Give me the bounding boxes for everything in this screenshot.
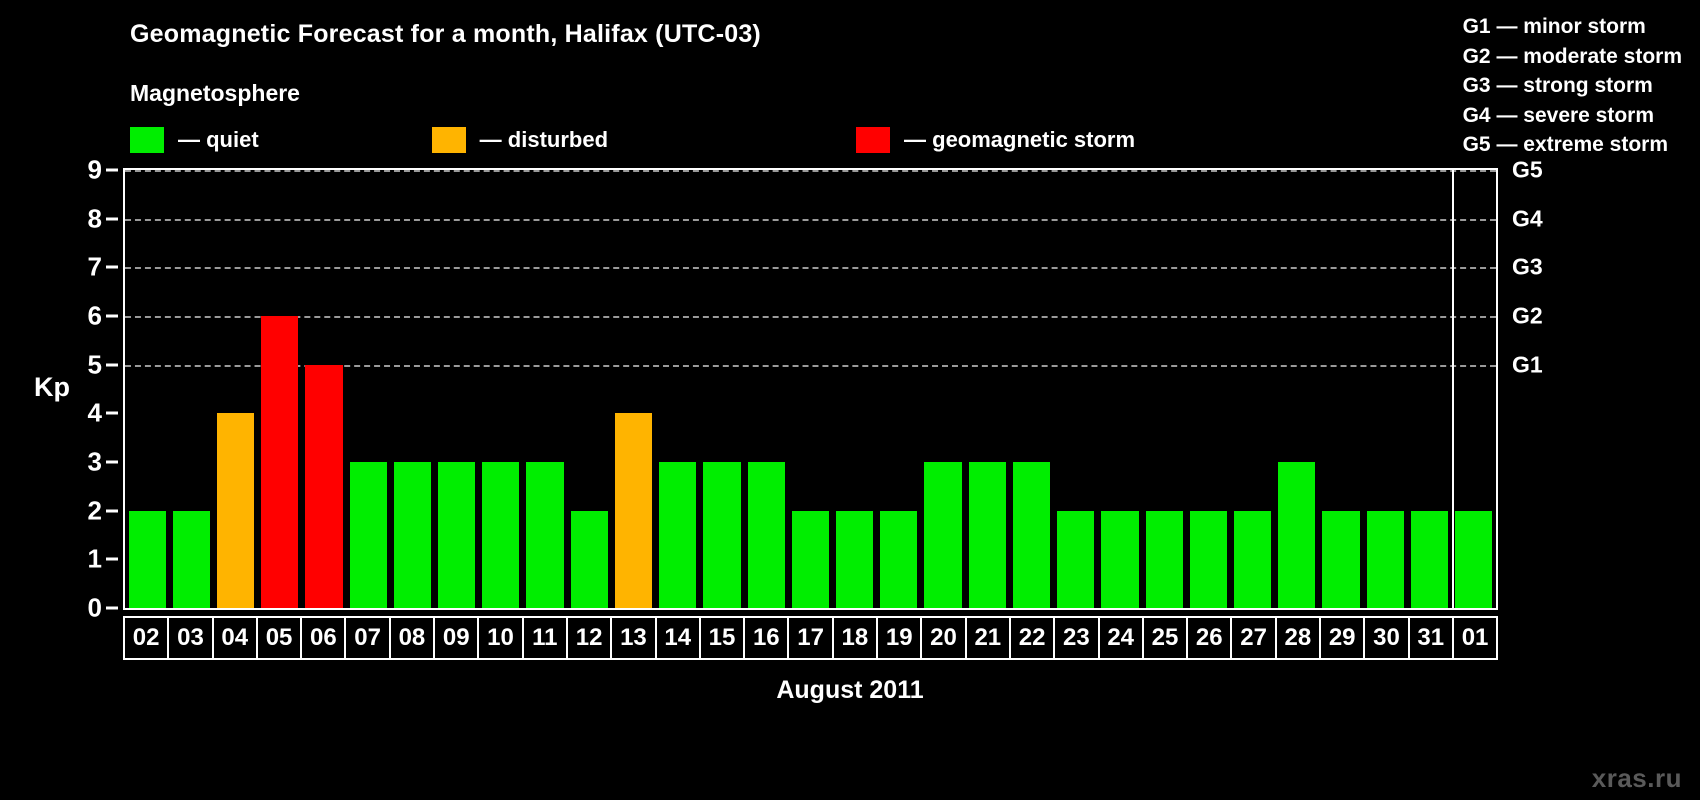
bar-slot-13 xyxy=(611,170,655,608)
y-tick-mark-4 xyxy=(106,412,118,415)
bar-slot-06 xyxy=(302,170,346,608)
date-label-08: 08 xyxy=(391,618,435,658)
bar-06 xyxy=(305,365,342,608)
legend-label-geomagnetic-storm: — geomagnetic storm xyxy=(904,127,1135,153)
bar-slot-05 xyxy=(258,170,302,608)
y-tick-label-4: 4 xyxy=(88,398,102,429)
bar-07 xyxy=(350,462,387,608)
date-label-07: 07 xyxy=(346,618,390,658)
bar-10 xyxy=(482,462,519,608)
bar-slot-27 xyxy=(1230,170,1274,608)
date-label-16: 16 xyxy=(745,618,789,658)
legend-label-quiet: — quiet xyxy=(178,127,259,153)
bar-18 xyxy=(836,511,873,608)
bar-slot-26 xyxy=(1186,170,1230,608)
bar-22 xyxy=(1013,462,1050,608)
bar-21 xyxy=(969,462,1006,608)
g-scale-line-2: G2 — moderate storm xyxy=(1463,42,1682,72)
bars xyxy=(125,170,1496,608)
g-axis-label-G1: G1 xyxy=(1512,351,1543,378)
y-tick-label-5: 5 xyxy=(88,349,102,380)
bar-31 xyxy=(1411,511,1448,608)
g-axis-label-G5: G5 xyxy=(1512,157,1543,184)
bar-01 xyxy=(1455,511,1492,608)
date-label-14: 14 xyxy=(657,618,701,658)
date-label-12: 12 xyxy=(568,618,612,658)
g-scale-axis: G5G4G3G2G1 xyxy=(1506,168,1586,610)
bar-26 xyxy=(1190,511,1227,608)
bar-slot-08 xyxy=(390,170,434,608)
date-label-26: 26 xyxy=(1188,618,1232,658)
date-label-04: 04 xyxy=(214,618,258,658)
x-axis-title: August 2011 xyxy=(0,676,1700,705)
bar-27 xyxy=(1234,511,1271,608)
bar-20 xyxy=(924,462,961,608)
date-label-23: 23 xyxy=(1055,618,1099,658)
date-label-20: 20 xyxy=(922,618,966,658)
date-label-17: 17 xyxy=(789,618,833,658)
bar-13 xyxy=(615,413,652,608)
watermark: xras.ru xyxy=(1592,763,1682,794)
date-label-28: 28 xyxy=(1277,618,1321,658)
date-label-09: 09 xyxy=(435,618,479,658)
date-label-29: 29 xyxy=(1321,618,1365,658)
bar-slot-20 xyxy=(921,170,965,608)
date-label-22: 22 xyxy=(1011,618,1055,658)
bar-12 xyxy=(571,511,608,608)
bar-slot-09 xyxy=(435,170,479,608)
g-axis-label-G2: G2 xyxy=(1512,303,1543,330)
g-scale-line-4: G4 — severe storm xyxy=(1463,101,1682,131)
g-scale-line-3: G3 — strong storm xyxy=(1463,71,1682,101)
g-scale-legend: G1 — minor stormG2 — moderate stormG3 — … xyxy=(1463,12,1682,160)
y-tick-label-8: 8 xyxy=(88,203,102,234)
date-label-31: 31 xyxy=(1410,618,1454,658)
bar-30 xyxy=(1367,511,1404,608)
date-label-19: 19 xyxy=(878,618,922,658)
y-tick-label-0: 0 xyxy=(88,593,102,624)
y-tick-mark-9 xyxy=(106,169,118,172)
bar-14 xyxy=(659,462,696,608)
bar-slot-02 xyxy=(125,170,169,608)
legend-swatch-geomagnetic-storm xyxy=(856,127,890,153)
bar-slot-17 xyxy=(788,170,832,608)
y-tick-label-9: 9 xyxy=(88,155,102,186)
date-label-15: 15 xyxy=(701,618,745,658)
legend-swatch-disturbed xyxy=(432,127,466,153)
bar-slot-15 xyxy=(700,170,744,608)
legend-item-geomagnetic-storm: — geomagnetic storm xyxy=(856,127,1135,153)
legend-swatch-quiet xyxy=(130,127,164,153)
bar-slot-22 xyxy=(1009,170,1053,608)
date-label-13: 13 xyxy=(612,618,656,658)
bar-29 xyxy=(1322,511,1359,608)
bar-slot-24 xyxy=(1098,170,1142,608)
date-label-30: 30 xyxy=(1365,618,1409,658)
bar-09 xyxy=(438,462,475,608)
date-label-03: 03 xyxy=(169,618,213,658)
bar-25 xyxy=(1146,511,1183,608)
date-label-27: 27 xyxy=(1232,618,1276,658)
legend: — quiet— disturbed— geomagnetic storm xyxy=(130,126,1135,154)
date-label-21: 21 xyxy=(967,618,1011,658)
date-label-18: 18 xyxy=(834,618,878,658)
bar-slot-03 xyxy=(169,170,213,608)
bar-08 xyxy=(394,462,431,608)
bar-slot-12 xyxy=(567,170,611,608)
bar-slot-23 xyxy=(1054,170,1098,608)
bar-slot-31 xyxy=(1407,170,1451,608)
date-label-05: 05 xyxy=(258,618,302,658)
bar-slot-28 xyxy=(1275,170,1319,608)
bar-04 xyxy=(217,413,254,608)
bar-slot-29 xyxy=(1319,170,1363,608)
bar-slot-04 xyxy=(213,170,257,608)
plot-area xyxy=(123,168,1498,610)
bar-slot-16 xyxy=(744,170,788,608)
g-axis-label-G4: G4 xyxy=(1512,205,1543,232)
bar-slot-18 xyxy=(833,170,877,608)
g-scale-line-5: G5 — extreme storm xyxy=(1463,130,1682,160)
y-tick-mark-5 xyxy=(106,363,118,366)
y-tick-mark-1 xyxy=(106,558,118,561)
bar-slot-19 xyxy=(877,170,921,608)
y-tick-mark-2 xyxy=(106,509,118,512)
y-tick-label-3: 3 xyxy=(88,447,102,478)
bar-05 xyxy=(261,316,298,608)
bar-02 xyxy=(129,511,166,608)
y-tick-label-2: 2 xyxy=(88,495,102,526)
bar-23 xyxy=(1057,511,1094,608)
bar-03 xyxy=(173,511,210,608)
bar-slot-07 xyxy=(346,170,390,608)
date-label-24: 24 xyxy=(1100,618,1144,658)
g-scale-line-1: G1 — minor storm xyxy=(1463,12,1682,42)
bar-17 xyxy=(792,511,829,608)
x-axis-date-labels: 0203040506070809101112131415161718192021… xyxy=(123,616,1498,660)
legend-label-disturbed: — disturbed xyxy=(480,127,608,153)
y-axis-title: Kp xyxy=(34,372,70,403)
bar-slot-01 xyxy=(1452,170,1496,608)
date-label-01: 01 xyxy=(1454,618,1496,658)
bar-slot-14 xyxy=(656,170,700,608)
page-title: Geomagnetic Forecast for a month, Halifa… xyxy=(130,20,761,49)
bar-24 xyxy=(1101,511,1138,608)
bar-slot-21 xyxy=(965,170,1009,608)
bar-19 xyxy=(880,511,917,608)
bar-slot-25 xyxy=(1142,170,1186,608)
y-tick-mark-6 xyxy=(106,315,118,318)
y-tick-label-7: 7 xyxy=(88,252,102,283)
bar-slot-11 xyxy=(523,170,567,608)
date-label-02: 02 xyxy=(125,618,169,658)
y-tick-mark-0 xyxy=(106,607,118,610)
y-tick-mark-8 xyxy=(106,217,118,220)
date-label-11: 11 xyxy=(524,618,568,658)
legend-item-disturbed: — disturbed xyxy=(432,127,608,153)
y-tick-label-6: 6 xyxy=(88,301,102,332)
legend-item-quiet: — quiet xyxy=(130,127,259,153)
g-axis-label-G3: G3 xyxy=(1512,254,1543,281)
bar-15 xyxy=(703,462,740,608)
date-label-10: 10 xyxy=(479,618,523,658)
date-label-06: 06 xyxy=(302,618,346,658)
bar-11 xyxy=(526,462,563,608)
forecast-divider xyxy=(1452,170,1454,608)
y-tick-label-1: 1 xyxy=(88,544,102,575)
bar-slot-30 xyxy=(1363,170,1407,608)
bar-16 xyxy=(748,462,785,608)
y-tick-mark-3 xyxy=(106,461,118,464)
magnetosphere-label: Magnetosphere xyxy=(130,80,300,107)
bar-28 xyxy=(1278,462,1315,608)
date-label-25: 25 xyxy=(1144,618,1188,658)
y-tick-mark-7 xyxy=(106,266,118,269)
bar-slot-10 xyxy=(479,170,523,608)
